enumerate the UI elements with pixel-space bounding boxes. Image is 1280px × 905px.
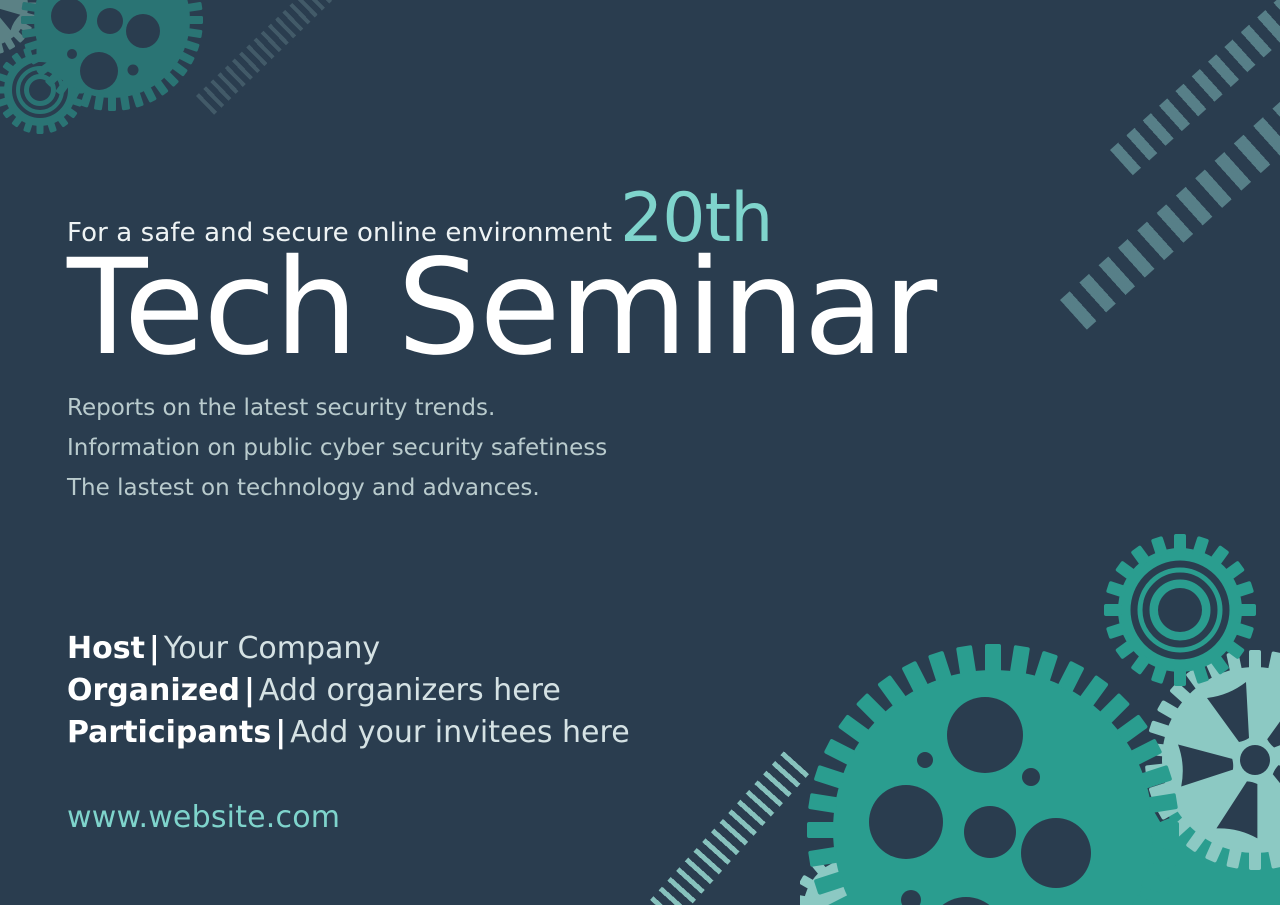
blurb-line: The lastest on technology and advances. <box>67 468 607 508</box>
stripe-band-top-left <box>196 0 344 115</box>
blurb-list: Reports on the latest security trends. I… <box>67 388 607 508</box>
gear-icon-small-light <box>800 848 917 905</box>
gear-cluster-bottom-right <box>800 505 1280 905</box>
gear-icon-tl-ring <box>0 46 84 134</box>
credit-value: Your Company <box>164 631 380 666</box>
credit-row-organized: Organized|Add organizers here <box>67 670 630 712</box>
gear-cluster-top-left <box>0 0 220 168</box>
blurb-line: Reports on the latest security trends. <box>67 388 607 428</box>
credits-block: Host|Your Company Organized|Add organize… <box>67 628 630 754</box>
credit-label: Host <box>67 631 145 666</box>
credit-separator: | <box>145 631 164 666</box>
seminar-poster: For a safe and secure online environment… <box>0 0 1280 905</box>
blurb-line: Information on public cyber security saf… <box>67 428 607 468</box>
gear-icon-tl-spoked <box>0 0 37 55</box>
credit-row-host: Host|Your Company <box>67 628 630 670</box>
stripe-band-right-upper <box>1110 0 1280 175</box>
credit-separator: | <box>271 715 290 750</box>
credit-label: Participants <box>67 715 271 750</box>
gear-icon-spoked-pale <box>1145 650 1280 870</box>
credit-label: Organized <box>67 673 240 708</box>
credit-row-participants: Participants|Add your invitees here <box>67 712 630 754</box>
stripe-band-right-lower <box>1060 0 1280 330</box>
credit-value: Add your invitees here <box>290 715 630 750</box>
gear-icon-tl-main <box>21 0 203 111</box>
page-title: Tech Seminar <box>67 242 936 374</box>
gear-icon-ring <box>1104 534 1256 686</box>
gear-icon-lower-right <box>1092 797 1280 905</box>
website-link[interactable]: www.website.com <box>67 800 340 835</box>
credit-value: Add organizers here <box>259 673 561 708</box>
credit-separator: | <box>240 673 259 708</box>
gear-icon-main <box>807 644 1179 905</box>
stripe-band-bottom <box>650 748 812 905</box>
